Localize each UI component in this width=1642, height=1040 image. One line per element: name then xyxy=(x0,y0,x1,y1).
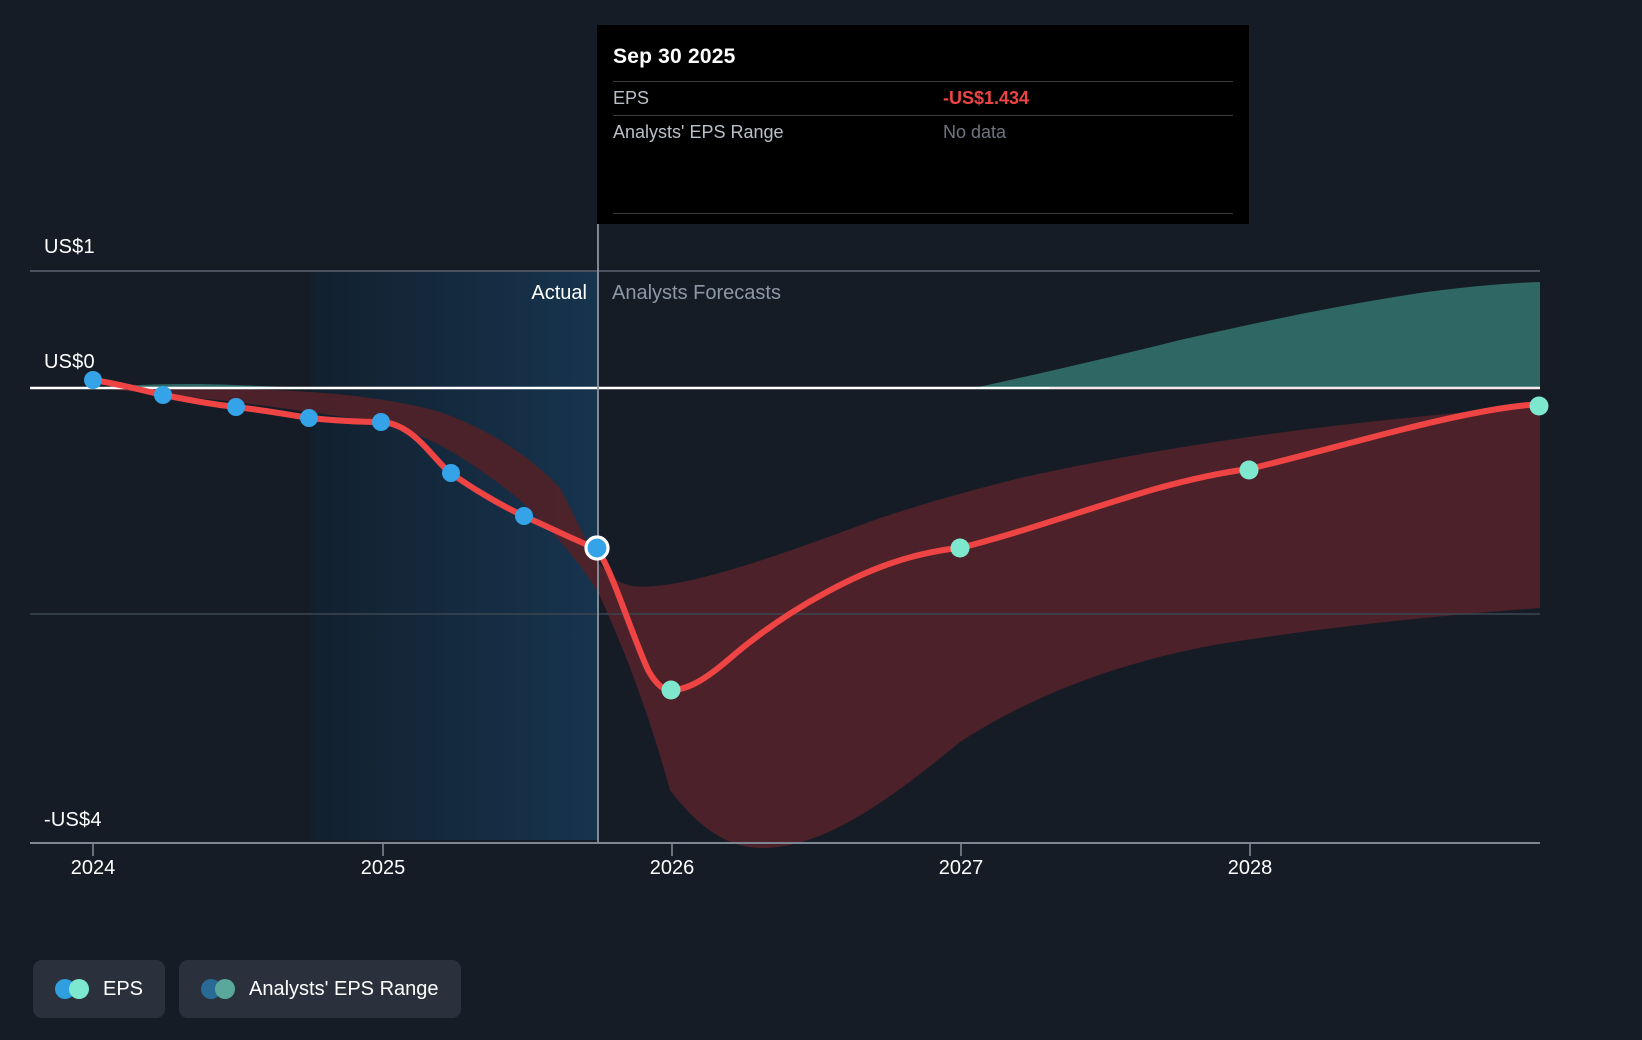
legend-swatch-eps-icon xyxy=(55,979,89,999)
data-point-actual[interactable] xyxy=(154,386,172,404)
legend-swatch-range-icon xyxy=(201,979,235,999)
chart-plot-area[interactable]: US$1 US$0 -US$4 2024 2025 2026 2027 2028… xyxy=(0,0,1642,900)
chart-legend: EPS Analysts' EPS Range xyxy=(33,960,461,1018)
actual-segment-label: Actual xyxy=(531,282,587,305)
data-point-actual[interactable] xyxy=(227,398,245,416)
legend-label-eps: EPS xyxy=(103,978,143,1001)
actual-period-highlight xyxy=(311,272,598,840)
eps-forecast-chart: US$1 US$0 -US$4 2024 2025 2026 2027 2028… xyxy=(0,0,1642,1040)
legend-item-eps[interactable]: EPS xyxy=(33,960,165,1018)
data-point-forecast[interactable] xyxy=(1530,397,1549,416)
x-axis-label-2028: 2028 xyxy=(1228,857,1273,880)
y-axis-label-minus-us4: -US$4 xyxy=(44,809,102,832)
legend-label-analysts-eps-range: Analysts' EPS Range xyxy=(249,978,438,1001)
tooltip-key-range: Analysts' EPS Range xyxy=(613,122,784,143)
data-point-actual[interactable] xyxy=(515,507,533,525)
x-axis-label-2024: 2024 xyxy=(71,857,116,880)
tooltip-key-eps: EPS xyxy=(613,88,649,109)
data-point-actual[interactable] xyxy=(442,464,460,482)
y-axis-label-us0: US$0 xyxy=(44,351,95,374)
forecast-segment-label: Analysts Forecasts xyxy=(612,282,781,305)
data-point-highlighted[interactable] xyxy=(586,537,608,559)
tooltip-row-range: Analysts' EPS Range No data xyxy=(613,115,1233,149)
data-point-actual[interactable] xyxy=(372,413,390,431)
data-point-actual[interactable] xyxy=(300,409,318,427)
tooltip-title: Sep 30 2025 xyxy=(613,25,1233,81)
x-axis-label-2026: 2026 xyxy=(650,857,695,880)
analyst-range-band-below-zero xyxy=(93,387,1540,848)
data-point-forecast[interactable] xyxy=(662,681,681,700)
x-axis-label-2025: 2025 xyxy=(361,857,406,880)
tooltip-bottom-divider xyxy=(613,213,1233,214)
tooltip-value-range: No data xyxy=(943,122,1233,143)
legend-item-analysts-eps-range[interactable]: Analysts' EPS Range xyxy=(179,960,460,1018)
tooltip-value-eps: -US$1.434 xyxy=(943,88,1233,109)
chart-tooltip: Sep 30 2025 EPS -US$1.434 Analysts' EPS … xyxy=(597,25,1249,224)
data-point-forecast[interactable] xyxy=(951,539,970,558)
y-axis-label-us1: US$1 xyxy=(44,236,95,259)
data-point-forecast[interactable] xyxy=(1240,461,1259,480)
x-axis-label-2027: 2027 xyxy=(939,857,984,880)
tooltip-row-eps: EPS -US$1.434 xyxy=(613,81,1233,115)
